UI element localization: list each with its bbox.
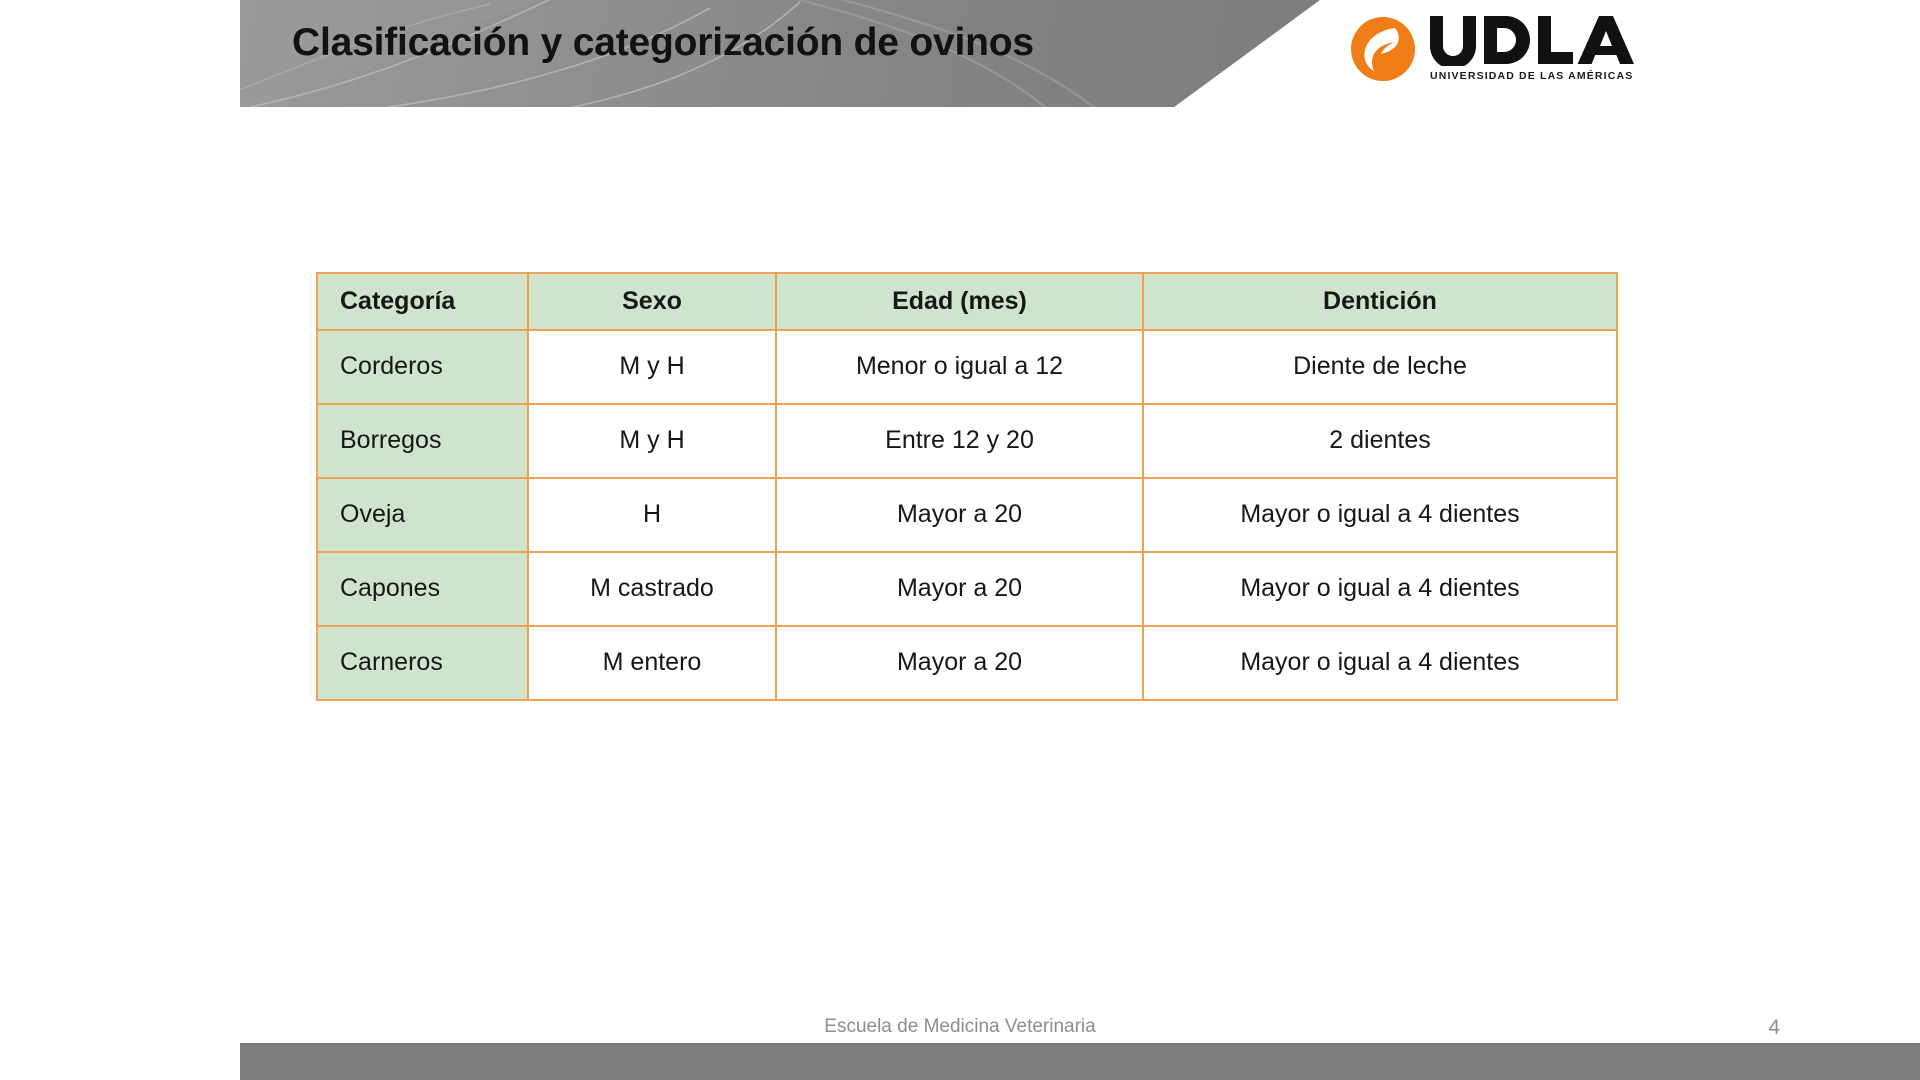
cell-categoria: Capones [317,552,528,626]
column-header-edad: Edad (mes) [776,273,1143,330]
cell-categoria: Oveja [317,478,528,552]
column-header-categoria: Categoría [317,273,528,330]
page-title: Clasificación y categorización de ovinos [292,12,1212,74]
cell-edad: Menor o igual a 12 [776,330,1143,404]
table-row: Corderos M y H Menor o igual a 12 Diente… [317,330,1617,404]
cell-denticion: Diente de leche [1143,330,1617,404]
cell-edad: Entre 12 y 20 [776,404,1143,478]
cell-sexo: M entero [528,626,776,700]
cell-edad: Mayor a 20 [776,626,1143,700]
cell-categoria: Carneros [317,626,528,700]
table-row: Capones M castrado Mayor a 20 Mayor o ig… [317,552,1617,626]
udla-logo-subtitle: UNIVERSIDAD DE LAS AMÉRICAS [1430,70,1633,82]
table-body: Corderos M y H Menor o igual a 12 Diente… [317,330,1617,700]
column-header-denticion: Dentición [1143,273,1617,330]
table-row: Oveja H Mayor a 20 Mayor o igual a 4 die… [317,478,1617,552]
cell-edad: Mayor a 20 [776,552,1143,626]
cell-denticion: Mayor o igual a 4 dientes [1143,626,1617,700]
cell-categoria: Corderos [317,330,528,404]
cell-sexo: H [528,478,776,552]
udla-flame-circle-icon [1350,16,1416,82]
table-row: Borregos M y H Entre 12 y 20 2 dientes [317,404,1617,478]
page-number: 4 [1768,1016,1780,1040]
column-header-sexo: Sexo [528,273,776,330]
table-row: Carneros M entero Mayor a 20 Mayor o igu… [317,626,1617,700]
cell-categoria: Borregos [317,404,528,478]
udla-wordmark [1428,14,1658,66]
cell-denticion: Mayor o igual a 4 dientes [1143,552,1617,626]
table-header: Categoría Sexo Edad (mes) Dentición [317,273,1617,330]
cell-sexo: M castrado [528,552,776,626]
cell-sexo: M y H [528,404,776,478]
cell-edad: Mayor a 20 [776,478,1143,552]
cell-denticion: Mayor o igual a 4 dientes [1143,478,1617,552]
cell-sexo: M y H [528,330,776,404]
slide: Clasificación y categorización de ovinos… [0,0,1920,1080]
classification-table: Categoría Sexo Edad (mes) Dentición Cord… [316,272,1618,701]
footer-text: Escuela de Medicina Veterinaria [0,1016,1920,1038]
footer-bar [240,1043,1920,1080]
udla-logo: UNIVERSIDAD DE LAS AMÉRICAS [1350,12,1660,90]
table-header-row: Categoría Sexo Edad (mes) Dentición [317,273,1617,330]
cell-denticion: 2 dientes [1143,404,1617,478]
